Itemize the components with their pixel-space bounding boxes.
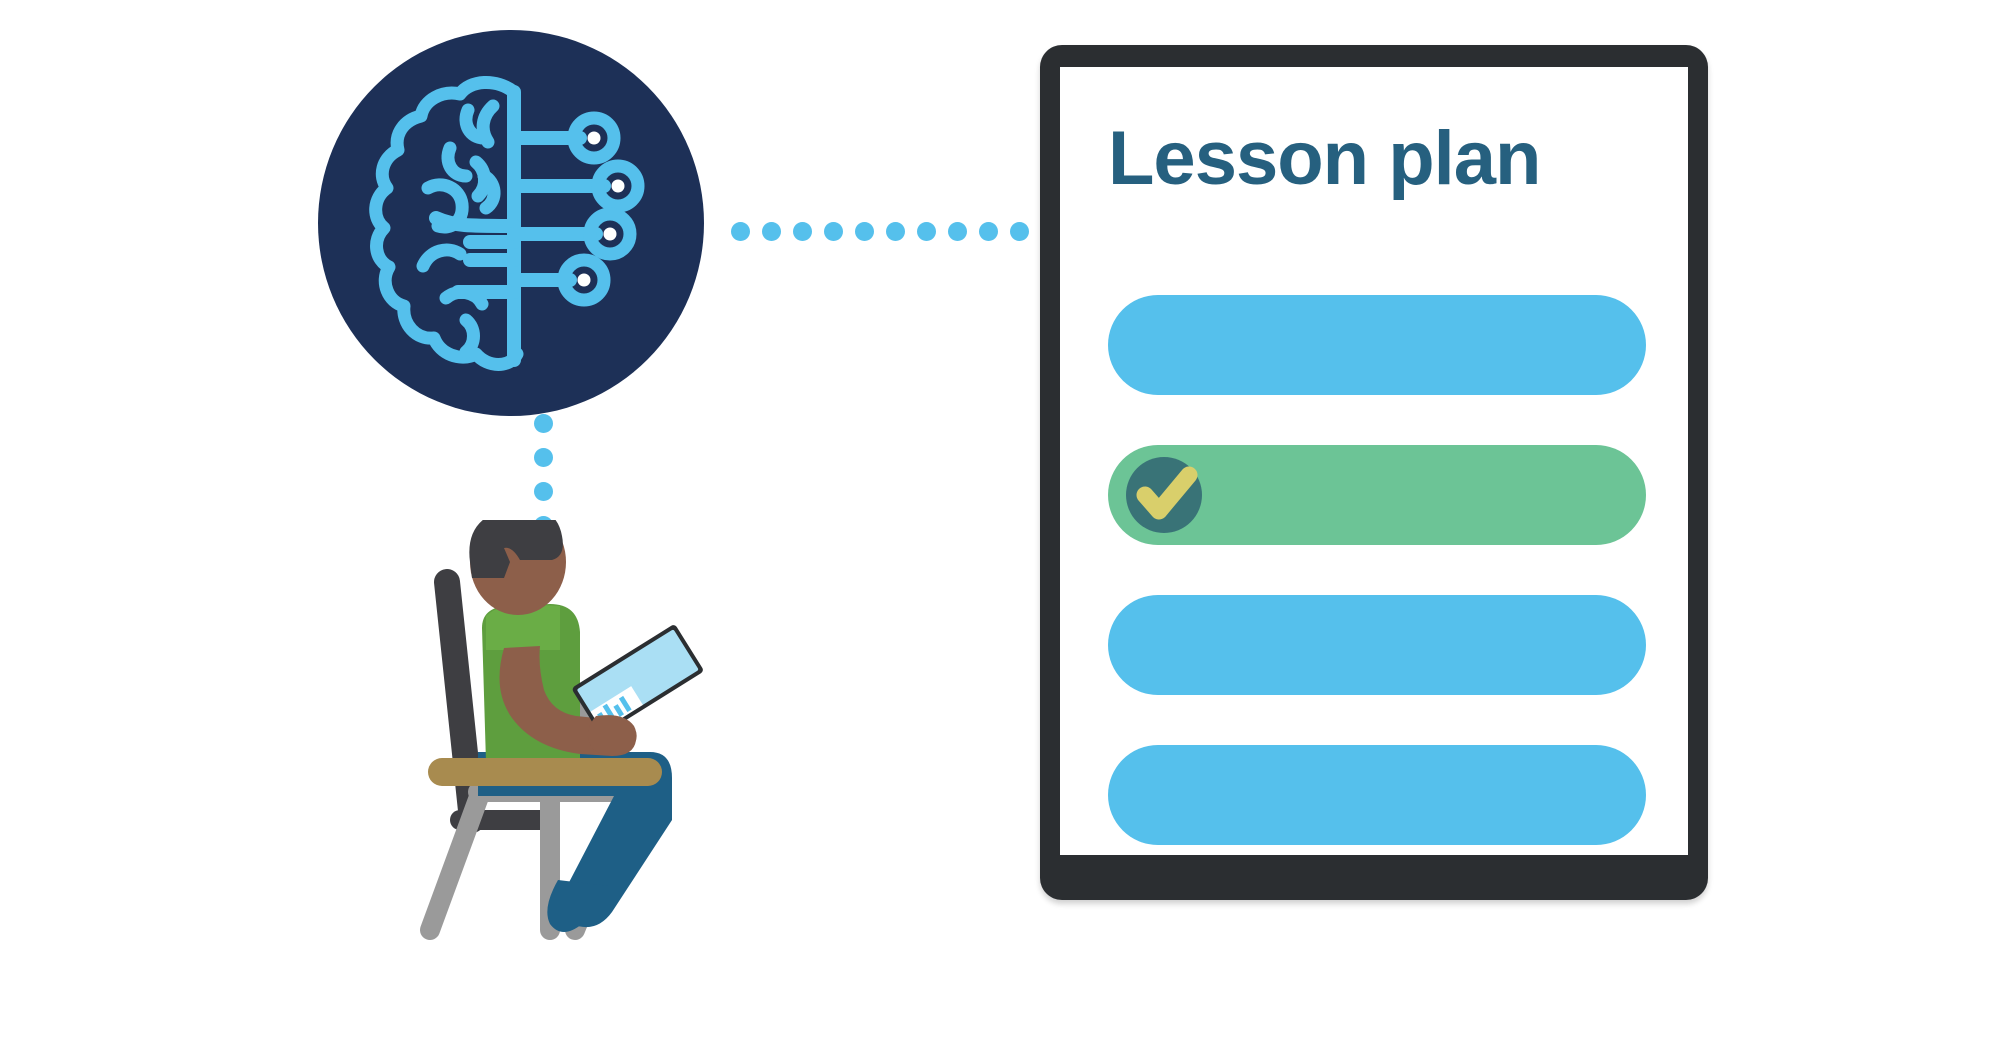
ai-brain-circuit-icon [318, 30, 704, 416]
student-hand [588, 715, 637, 755]
student-at-desk [400, 520, 800, 1020]
lesson-plan-row[interactable] [1108, 295, 1646, 395]
lesson-plan-page: Lesson plan [1060, 67, 1688, 855]
lesson-plan-row-completed[interactable] [1108, 445, 1646, 545]
lesson-plan-row[interactable] [1108, 595, 1646, 695]
circuit-node-group [564, 118, 638, 300]
page-title: Lesson plan [1108, 121, 1540, 197]
desk [428, 758, 662, 786]
lesson-plan-row[interactable] [1108, 745, 1646, 845]
tablet-device [571, 624, 704, 736]
student-head [469, 520, 566, 615]
checkmark-icon [1126, 457, 1202, 533]
lesson-plan-document[interactable]: Lesson plan [1040, 45, 1708, 900]
illustration-canvas: Lesson plan [0, 0, 2002, 1062]
ai-brain-badge [318, 30, 704, 416]
